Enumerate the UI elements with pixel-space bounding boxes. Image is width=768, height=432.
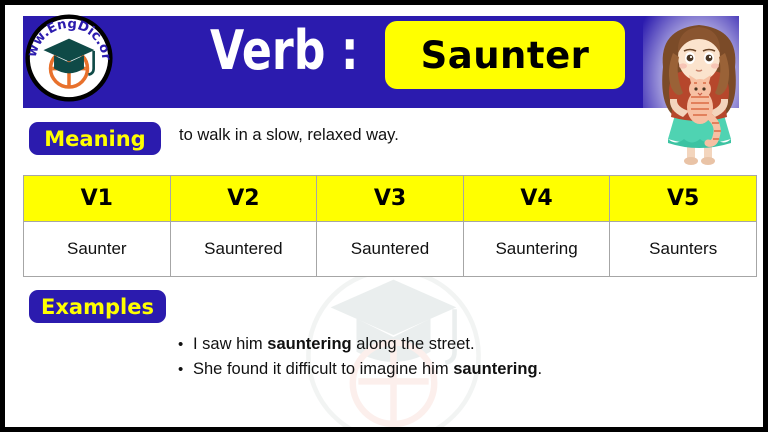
cell-v3: Sauntered: [317, 222, 464, 277]
header-band: [23, 16, 739, 108]
example-2-bold: sauntering: [453, 360, 537, 378]
table-row: Saunter Sauntered Sauntered Sauntering S…: [24, 222, 757, 277]
examples-label-badge: Examples: [29, 290, 166, 323]
cell-v2: Sauntered: [170, 222, 317, 277]
example-1-before: I saw him: [193, 335, 267, 353]
meaning-text: to walk in a slow, relaxed way.: [179, 126, 399, 145]
example-2-after: .: [538, 360, 543, 378]
column-header-v2: V2: [170, 176, 317, 222]
table-header-row: V1 V2 V3 V4 V5: [24, 176, 757, 222]
example-1-after: along the street.: [352, 335, 475, 353]
vocabulary-word: Saunter: [421, 34, 590, 77]
girl-holding-cat-illustration: [643, 13, 755, 168]
cell-v1: Saunter: [24, 222, 171, 277]
column-header-v5: V5: [610, 176, 757, 222]
vocabulary-word-chip: Saunter: [385, 21, 625, 89]
meaning-label: Meaning: [44, 127, 145, 151]
column-header-v3: V3: [317, 176, 464, 222]
page-title: Verb :: [210, 19, 359, 83]
verb-forms-table: V1 V2 V3 V4 V5 Saunter Sauntered Saunter…: [23, 175, 757, 277]
cell-v5: Saunters: [610, 222, 757, 277]
list-item: I saw him sauntering along the street.: [193, 332, 542, 357]
list-item: She found it difficult to imagine him sa…: [193, 357, 542, 382]
example-2-before: She found it difficult to imagine him: [193, 360, 453, 378]
example-1-bold: sauntering: [267, 335, 351, 353]
examples-label: Examples: [41, 295, 154, 319]
infographic-page: Verb : Saunter www.EngDic.org: [0, 0, 768, 432]
column-header-v4: V4: [463, 176, 610, 222]
engdic-logo-icon[interactable]: www.EngDic.org: [25, 14, 113, 102]
meaning-label-badge: Meaning: [29, 122, 161, 155]
examples-list: I saw him sauntering along the street. S…: [175, 332, 542, 382]
cell-v4: Sauntering: [463, 222, 610, 277]
column-header-v1: V1: [24, 176, 171, 222]
